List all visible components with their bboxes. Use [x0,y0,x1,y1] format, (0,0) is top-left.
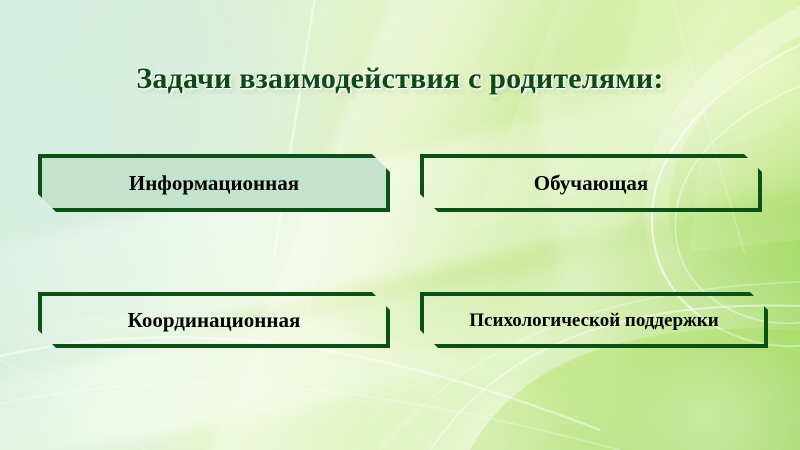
presentation-slide: Задачи взаимодействия с родителями: Инфо… [0,0,800,450]
slide-title: Задачи взаимодействия с родителями: [0,62,800,96]
concept-box-label: Психологической поддержки [469,311,718,330]
concept-box-teaching[interactable]: Обучающая [420,154,762,212]
concept-box-label: Информационная [129,173,299,194]
concept-box-label: Координационная [128,310,301,331]
concept-box-psychological-support[interactable]: Психологической поддержки [420,292,768,348]
concept-box-coordination[interactable]: Координационная [38,292,390,348]
concept-box-label: Обучающая [534,173,649,194]
concept-box-informational[interactable]: Информационная [38,154,390,212]
